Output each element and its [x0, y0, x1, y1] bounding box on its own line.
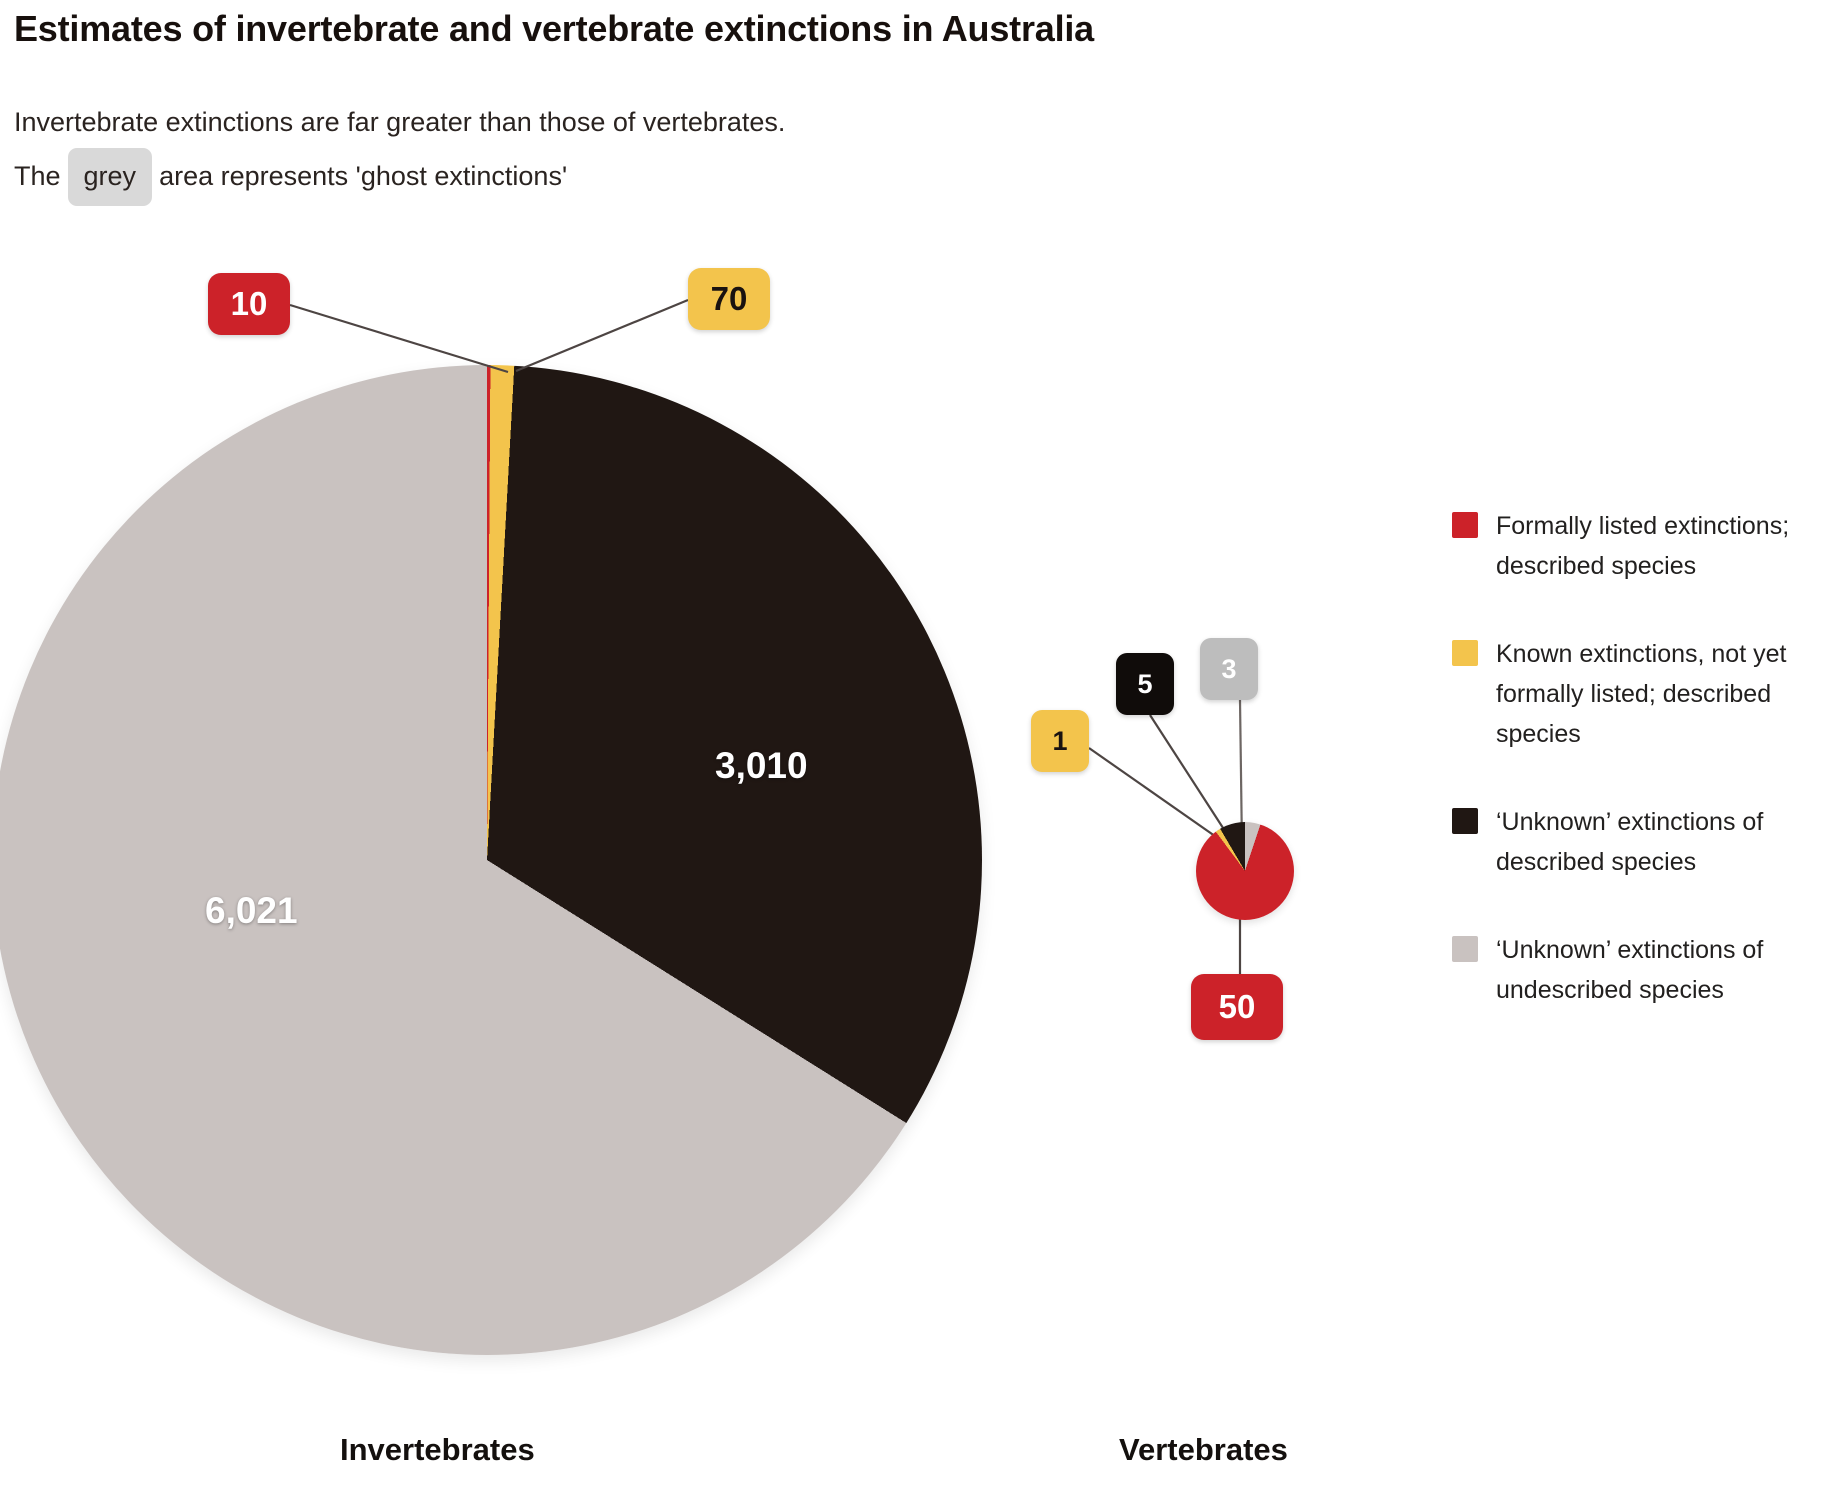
callout-invertebrates-formally-listed[interactable]: 10 [208, 273, 290, 335]
legend-label: Formally listed extinctions; described s… [1496, 506, 1812, 586]
chart-page: Estimates of invertebrate and vertebrate… [0, 0, 1824, 1494]
page-title: Estimates of invertebrate and vertebrate… [14, 8, 1094, 50]
subtitle-line-1: Invertebrate extinctions are far greater… [14, 96, 785, 148]
legend-swatch-icon [1452, 512, 1478, 538]
subtitle-line-2: Thegreyarea represents 'ghost extinction… [14, 148, 785, 206]
legend-swatch-icon [1452, 808, 1478, 834]
callout-vertebrates-unknown-described[interactable]: 5 [1116, 653, 1174, 715]
page-subtitle: Invertebrate extinctions are far greater… [14, 96, 785, 206]
legend-label: ‘Unknown’ extinctions of undescribed spe… [1496, 930, 1812, 1010]
callout-vertebrates-known-not-listed[interactable]: 1 [1031, 710, 1089, 772]
legend-item-known-not-listed[interactable]: Known extinctions, not yet formally list… [1452, 634, 1812, 754]
invertebrates-unknown-described-value: 3,010 [715, 745, 808, 787]
category-label-vertebrates: Vertebrates [1119, 1432, 1288, 1468]
grey-chip: grey [68, 148, 153, 206]
legend-item-unknown-undescribed[interactable]: ‘Unknown’ extinctions of undescribed spe… [1452, 930, 1812, 1010]
callout-vertebrates-formally-listed[interactable]: 50 [1191, 974, 1283, 1040]
legend-swatch-icon [1452, 640, 1478, 666]
legend: Formally listed extinctions; described s… [1452, 506, 1812, 1058]
invertebrates-unknown-undescribed-value: 6,021 [205, 890, 298, 932]
invertebrates-pie-chart [0, 365, 982, 1355]
vertebrates-pie-chart [1196, 822, 1294, 920]
legend-label: Known extinctions, not yet formally list… [1496, 634, 1812, 754]
legend-item-unknown-described[interactable]: ‘Unknown’ extinctions of described speci… [1452, 802, 1812, 882]
callout-vertebrates-unknown-undescribed[interactable]: 3 [1200, 638, 1258, 700]
subtitle-suffix: area represents 'ghost extinctions' [159, 161, 567, 191]
legend-label: ‘Unknown’ extinctions of described speci… [1496, 802, 1812, 882]
category-label-invertebrates: Invertebrates [340, 1432, 535, 1468]
legend-swatch-icon [1452, 936, 1478, 962]
legend-item-formally-listed[interactable]: Formally listed extinctions; described s… [1452, 506, 1812, 586]
callout-invertebrates-known-not-listed[interactable]: 70 [688, 268, 770, 330]
subtitle-prefix: The [14, 161, 61, 191]
